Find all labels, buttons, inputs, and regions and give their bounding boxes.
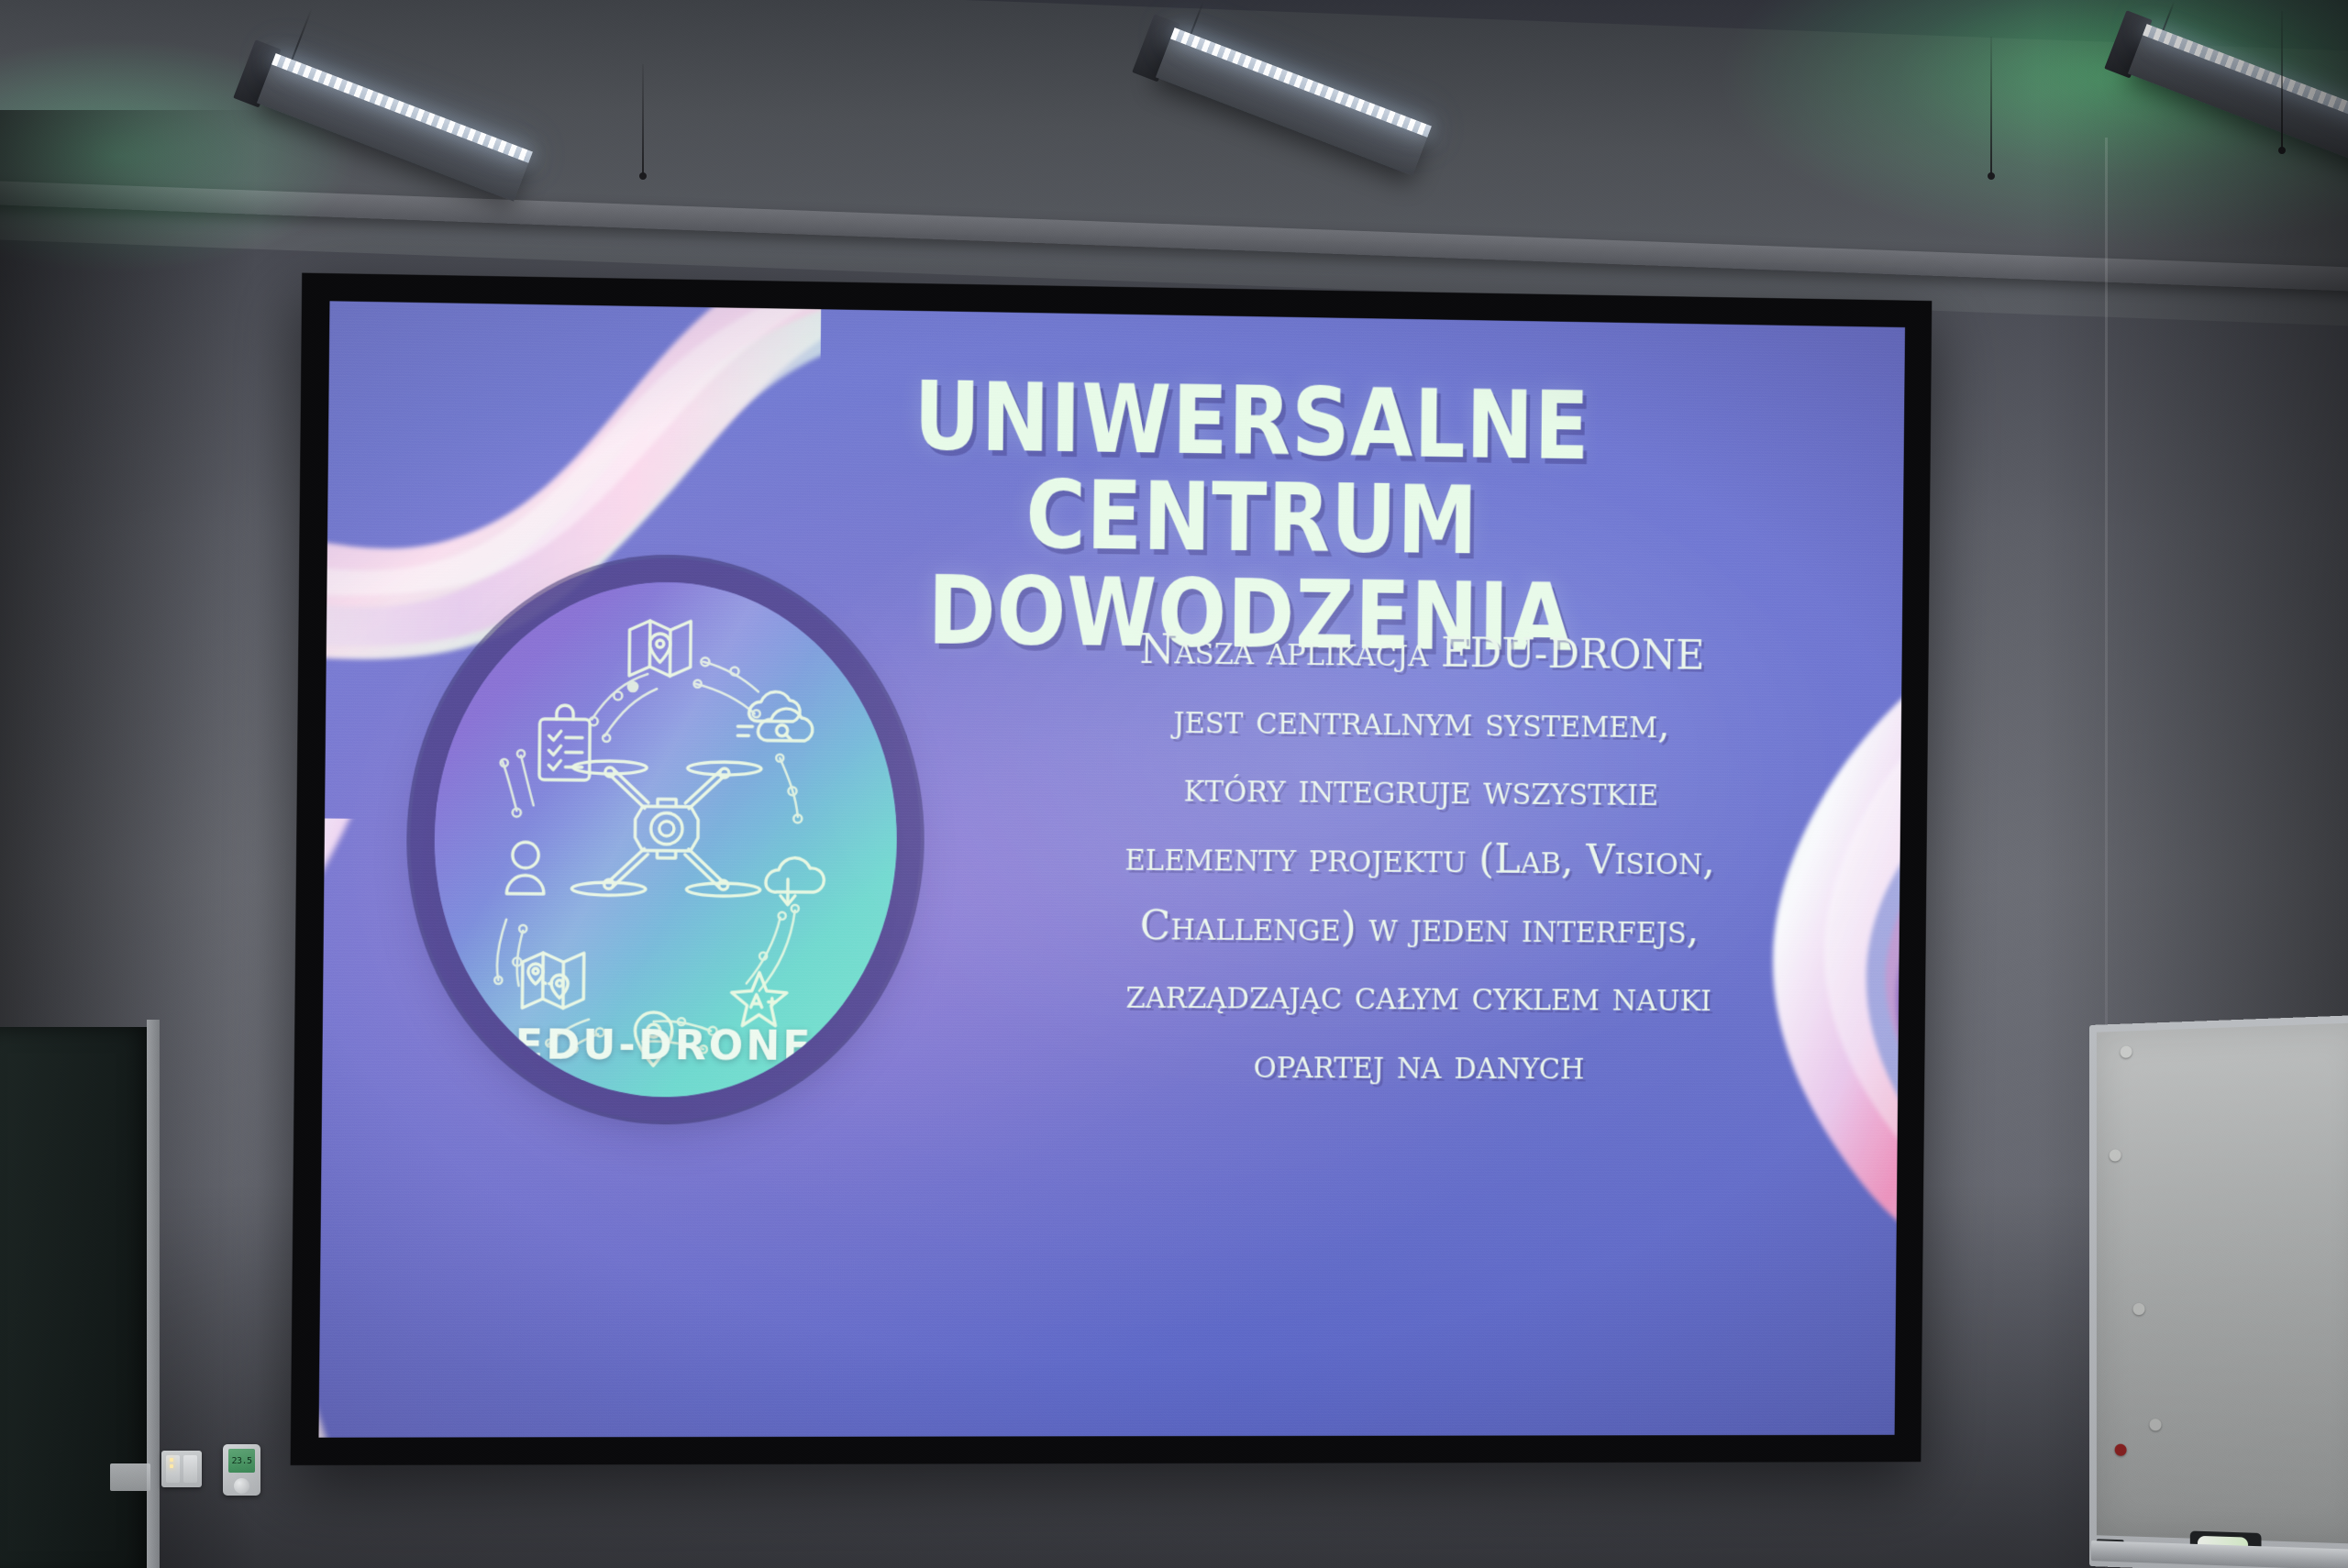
slide-body: Nasza aplikacja EDU-DRONE jest centralny… <box>960 613 1876 1101</box>
slide-body-line: zarządzając całym cyklem nauki <box>961 959 1873 1032</box>
whiteboard-surface[interactable] <box>2097 1022 2348 1544</box>
light-switch-rocker-right[interactable] <box>183 1455 197 1483</box>
slide-body-line: który integruje wszystkie <box>963 752 1875 829</box>
slide-body-line: jest centralnym systemem, <box>964 682 1876 760</box>
slide-body-line: Challenge) w jeden interfejs, <box>961 890 1873 966</box>
slide-body-line: Nasza aplikacja EDU-DRONE <box>964 613 1876 692</box>
hanging-cable-2 <box>1990 37 1992 174</box>
slide-surface[interactable]: EDU-DRONE UNIWERSALNE CENTRUM DOWODZENIA… <box>318 301 1905 1437</box>
whiteboard[interactable] <box>2089 1015 2348 1568</box>
light-switch-rocker-left[interactable] <box>166 1455 180 1483</box>
thermostat[interactable]: 23.5 <box>223 1444 260 1496</box>
projection-screen[interactable]: EDU-DRONE UNIWERSALNE CENTRUM DOWODZENIA… <box>275 151 1926 1343</box>
wall-plate <box>110 1463 150 1491</box>
switch-led-icon <box>170 1464 173 1468</box>
slide-body-line: elementy projektu (Lab, Vision, <box>962 821 1874 897</box>
light-switch-panel[interactable] <box>161 1451 202 1487</box>
logo-caption: EDU-DRONE <box>432 1021 894 1070</box>
slide-body-line: opartej na danych <box>960 1029 1872 1101</box>
switch-led-icon <box>170 1458 173 1462</box>
scene-root: 23.5 <box>0 0 2348 1568</box>
slide-title-line-1: UNIWERSALNE CENTRUM <box>914 360 1590 576</box>
screen-bezel: EDU-DRONE UNIWERSALNE CENTRUM DOWODZENIA… <box>291 273 1933 1465</box>
whiteboard-shading <box>2097 1022 2348 1544</box>
thermostat-knob[interactable] <box>234 1478 249 1494</box>
thermostat-display: 23.5 <box>228 1449 255 1473</box>
